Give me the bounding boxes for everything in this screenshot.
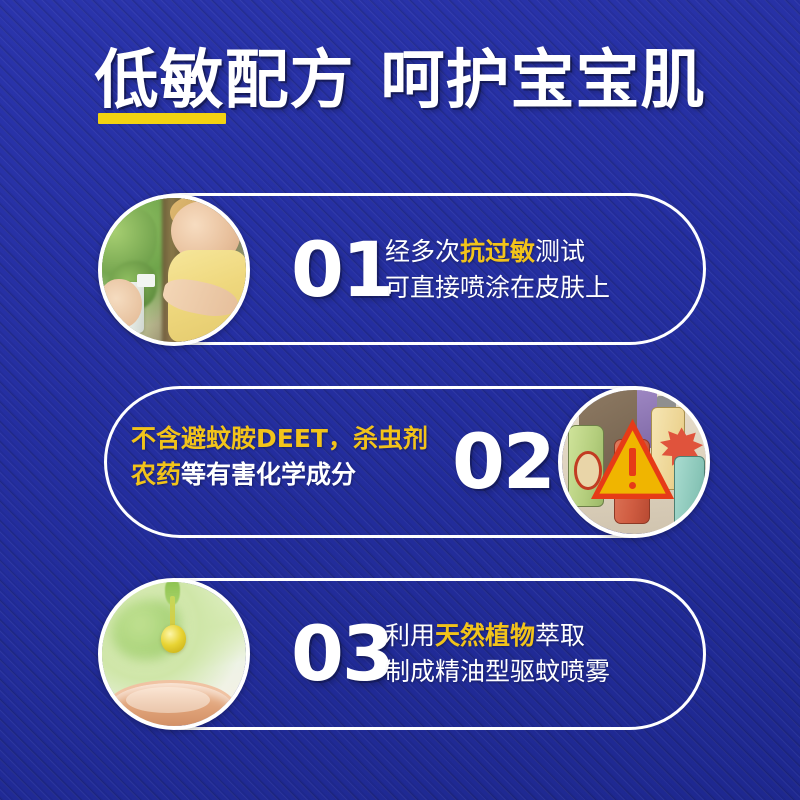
spray-nozzle-shape: [137, 274, 156, 287]
glass-dish-inner-shape: [126, 687, 210, 713]
no-mosquito-label-icon: [574, 451, 601, 489]
child-spraying-repellent-photo: [98, 194, 250, 346]
copy-highlight: 不含避蚊胺DEET，杀虫剂: [131, 424, 428, 453]
child-spraying-scene: [102, 198, 246, 342]
chemical-hazard-scene: [562, 390, 706, 534]
copy-post: 等有害化学成分: [181, 460, 356, 489]
headline-underline-bar: [98, 113, 226, 124]
feature-number-03: 03: [291, 616, 393, 692]
chemical-cans-warning-illustration: [558, 386, 710, 538]
exclamation-stroke-icon: [629, 448, 636, 477]
feature-copy-01-line1: 经多次抗过敏测试: [385, 234, 610, 270]
feature-number-01: 01: [291, 232, 393, 308]
feature-copy-03: 利用天然植物萃取 制成精油型驱蚊喷雾: [385, 618, 610, 689]
promo-poster: 低敏配方呵护宝宝肌 01 经多次抗过敏测试 可直接喷涂在皮肤上 不含避蚊胺DEE…: [0, 0, 800, 800]
feature-copy-03-line1: 利用天然植物萃取: [385, 618, 610, 654]
copy-pre: 可直接喷涂在皮肤上: [385, 273, 610, 302]
feature-copy-02-line1: 不含避蚊胺DEET，杀虫剂: [131, 421, 428, 457]
headline-segment-rest: 配方: [225, 44, 355, 118]
copy-highlight: 天然植物: [435, 621, 535, 650]
copy-post: 测试: [535, 237, 585, 266]
page-title: 低敏配方呵护宝宝肌: [0, 46, 800, 118]
feature-number-02: 02: [452, 424, 554, 500]
feature-copy-02-line2: 农药等有害化学成分: [131, 457, 428, 493]
copy-post: 萃取: [535, 621, 585, 650]
essential-oil-drop-photo: [98, 578, 250, 730]
teal-canister-shape: [674, 456, 705, 527]
oil-drop-scene: [102, 582, 246, 726]
feature-copy-01-line2: 可直接喷涂在皮肤上: [385, 270, 610, 306]
copy-pre: 经多次: [385, 237, 460, 266]
headline-inner: 低敏配方呵护宝宝肌: [95, 46, 706, 118]
feature-copy-03-line2: 制成精油型驱蚊喷雾: [385, 654, 610, 690]
feature-copy-02: 不含避蚊胺DEET，杀虫剂 农药等有害化学成分: [131, 421, 428, 492]
copy-highlight: 农药: [131, 460, 181, 489]
copy-pre: 利用: [385, 621, 435, 650]
oil-droplet-shape: [161, 625, 185, 652]
child-hand-shape: [99, 279, 142, 328]
copy-pre: 制成精油型驱蚊喷雾: [385, 657, 610, 686]
headline-segment-underlined: 低敏: [95, 44, 225, 118]
feature-copy-01: 经多次抗过敏测试 可直接喷涂在皮肤上: [385, 234, 610, 305]
copy-highlight: 抗过敏: [460, 237, 535, 266]
headline-segment-second: 呵护宝宝肌: [381, 44, 706, 118]
